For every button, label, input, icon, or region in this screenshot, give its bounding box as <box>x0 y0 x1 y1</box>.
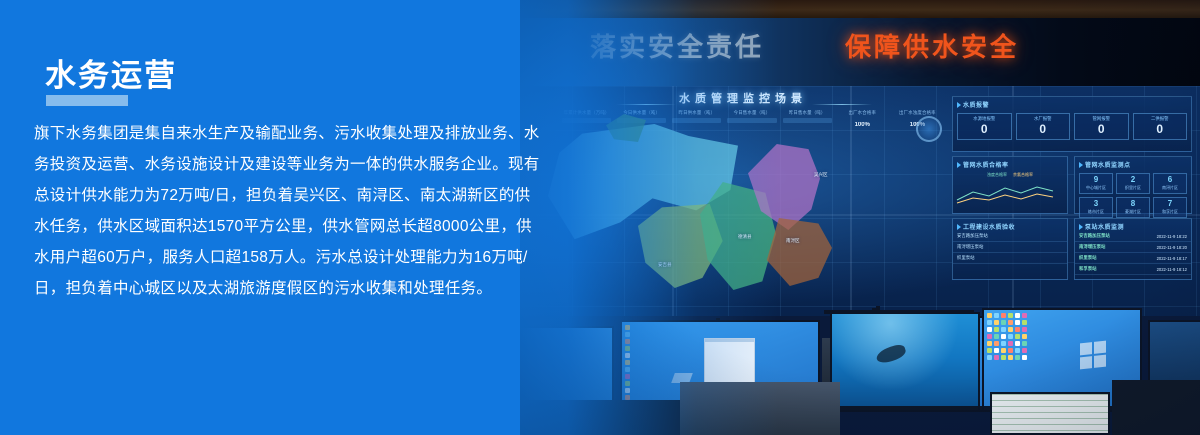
list-item-name: 织里泵站 <box>957 255 975 261</box>
panel-title: 管网水质合格率 <box>953 157 1067 169</box>
metric-value: 100% <box>838 122 887 128</box>
list-item: 和孚泵站 2022-11-9 18:12 <box>1075 264 1191 275</box>
windows-logo-icon <box>1080 341 1106 370</box>
monitor-point-cell: 2 织里片区 <box>1116 173 1150 194</box>
monitor-point-cell: 9 中心城片区 <box>1079 173 1113 194</box>
list-item-name: 安吉路加压泵站 <box>957 233 988 239</box>
panel-monitor-points: 管网水质监测点 9 中心城片区 2 织里片区 6 南浔片区 <box>1074 156 1192 214</box>
list-item-name: 南浔增压泵站 <box>957 244 983 250</box>
monitor-point-label: 菱湖片区 <box>1117 209 1149 215</box>
metric-bar <box>562 118 611 123</box>
desktop-icon-column <box>625 325 630 407</box>
list-item-time: 2022-11-9 18:12 <box>1157 267 1187 272</box>
list-item: 织里泵站 2022-11-9 18:17 <box>1075 253 1191 264</box>
alarm-card-value: 0 <box>1134 122 1187 136</box>
monitor-point-cell: 6 南浔片区 <box>1153 173 1187 194</box>
alarm-card-value: 0 <box>1017 122 1070 136</box>
alarm-card-label: 水厂报警 <box>1017 116 1070 122</box>
alarm-card: 管网报警 0 <box>1074 113 1129 140</box>
metric-label: 昨日供水量（吨） <box>672 110 721 116</box>
list-item: 南浔增压泵站 <box>953 242 1067 253</box>
monitor-point-value: 3 <box>1080 199 1112 209</box>
metric-label: 今日售水量（吨） <box>727 110 776 116</box>
list-item-name: 织里泵站 <box>1079 255 1097 260</box>
metric-label: 年累计供水量（万吨） <box>562 110 611 116</box>
monitor-point-cell: 7 和孚片区 <box>1153 197 1187 218</box>
alarm-card-label: 管网报警 <box>1075 116 1128 122</box>
monitor-point-label: 南浔片区 <box>1154 185 1186 191</box>
panel-station-water-quality: 泵站水质监测 安吉路加压泵站 2022-11-9 18:22 南浔增压泵站 20… <box>1074 218 1192 280</box>
monitor-point-value: 8 <box>1117 199 1149 209</box>
map-label-deqing: 德清县 <box>738 234 752 240</box>
pass-rate-chart <box>953 180 1063 206</box>
control-room-photo: 落实安全责任 保障供水安全 水质管理监控场景 年累计供水量（万吨） 今日供水量（… <box>520 0 1200 435</box>
monitor-point-label: 织里片区 <box>1117 185 1149 191</box>
desktop-icon-grid <box>987 313 1027 360</box>
description-text: 旗下水务集团是集自来水生产及输配业务、污水收集处理及排放业务、水务投资及运营、水… <box>34 118 544 304</box>
list-item-name: 安吉路加压泵站 <box>1079 233 1110 238</box>
legend-turbidity: 浊度合格率 <box>987 172 1007 178</box>
metric-item: 昨日供水量（吨） <box>672 110 721 128</box>
list-item: 南浔增压泵站 2022-11-9 18:20 <box>1075 242 1191 253</box>
metric-bar <box>783 118 832 123</box>
list-item-time: 2022-11-9 18:20 <box>1157 245 1187 250</box>
alarm-card: 水源地报警 0 <box>957 113 1012 140</box>
panel-water-quality-alarm: 水质报警 水源地报警 0 水厂报警 0 管网报警 0 二供报 <box>952 96 1192 152</box>
spacer9 <box>716 318 720 322</box>
list-item-time: 2022-11-9 18:22 <box>1157 234 1187 239</box>
desk-front-edge-right <box>1112 380 1200 435</box>
monitor-point-label: 练市片区 <box>1080 209 1112 215</box>
video-wall: 水质管理监控场景 年累计供水量（万吨） 今日供水量（吨） 昨日供水量（吨） <box>520 86 1200 316</box>
metric-label: 出厂水合格率 <box>838 110 887 116</box>
monitor-spreadsheet <box>990 392 1110 435</box>
description-paragraph: 旗下水务集团是集自来水生产及输配业务、污水收集处理及排放业务、水务投资及运营、水… <box>34 118 544 304</box>
slogan-right: 保障供水安全 <box>845 27 1019 64</box>
monitor-point-grid: 9 中心城片区 2 织里片区 6 南浔片区 3 练市片区 <box>1075 169 1191 222</box>
monitor-point-value: 2 <box>1117 175 1149 185</box>
alarm-card: 二供报警 0 <box>1133 113 1188 140</box>
panel-title: 水质报警 <box>953 97 1191 109</box>
metric-item: 今日售水量（吨） <box>727 110 776 128</box>
panel-title: 工程建设水质验收 <box>953 219 1067 231</box>
monitor-point-cell: 3 练市片区 <box>1079 197 1113 218</box>
metric-label: 昨日售水量（吨） <box>783 110 832 116</box>
monitor-point-cell: 8 菱湖片区 <box>1116 197 1150 218</box>
map-label-nanxun: 南浔区 <box>786 238 800 244</box>
monitor-point-value: 9 <box>1080 175 1112 185</box>
metric-bar <box>672 118 721 123</box>
foreground-monitor-back <box>680 382 840 435</box>
water-operations-banner: 落实安全责任 保障供水安全 水质管理监控场景 年累计供水量（万吨） 今日供水量（… <box>0 0 1200 435</box>
window-titlebar <box>705 339 754 342</box>
text-column: 水务运营 旗下水务集团是集自来水生产及输配业务、污水收集处理及排放业务、水务投资… <box>0 0 560 435</box>
legend-chlorine: 余氯合格率 <box>1013 172 1033 178</box>
underwater-wallpaper <box>832 314 978 410</box>
monitor-point-value: 7 <box>1154 199 1186 209</box>
list-item-name: 和孚泵站 <box>1079 266 1097 271</box>
monitor-underwater <box>830 312 980 412</box>
metric-item: 年累计供水量（万吨） <box>562 110 611 128</box>
page-title: 水务运营 <box>45 50 177 95</box>
slogan-left: 落实安全责任 <box>590 27 764 64</box>
map-label-wuxing: 吴兴区 <box>814 172 828 178</box>
alarm-card-row: 水源地报警 0 水厂报警 0 管网报警 0 二供报警 0 <box>953 109 1191 144</box>
list-item: 安吉路加压泵站 2022-11-9 18:22 <box>1075 231 1191 242</box>
panel-pass-rate: 管网水质合格率 浊度合格率 余氯合格率 <box>952 156 1068 214</box>
list-item: 织里泵站 <box>953 253 1067 264</box>
panel-title: 管网水质监测点 <box>1075 157 1191 169</box>
panel-title: 泵站水质监测 <box>1075 219 1191 231</box>
spreadsheet-content <box>992 394 1108 433</box>
map-label-anji: 安吉县 <box>658 262 672 268</box>
alarm-card: 水厂报警 0 <box>1016 113 1071 140</box>
alarm-card-value: 0 <box>958 122 1011 136</box>
monitor-point-label: 中心城片区 <box>1080 185 1112 191</box>
title-underline-bar <box>46 95 128 106</box>
compass-gauge <box>916 116 942 142</box>
list-item-time: 2022-11-9 18:17 <box>1157 256 1187 261</box>
metric-item: 昨日售水量（吨） <box>783 110 832 128</box>
metric-bar <box>727 118 776 123</box>
monitor-point-value: 6 <box>1154 175 1186 185</box>
alarm-card-label: 二供报警 <box>1134 116 1187 122</box>
alarm-card-label: 水源地报警 <box>958 116 1011 122</box>
alarm-card-value: 0 <box>1075 122 1128 136</box>
title-decoration-left <box>616 104 676 105</box>
list-item-name: 南浔增压泵站 <box>1079 244 1105 249</box>
list-item: 安吉路加压泵站 <box>953 231 1067 242</box>
panel-construction-inspection: 工程建设水质验收 安吉路加压泵站 南浔增压泵站 织里泵站 <box>952 218 1068 280</box>
metric-item: 出厂水合格率 100% <box>838 110 887 128</box>
metric-label: 出厂水浊度合格率 <box>893 110 942 116</box>
monitor-point-label: 和孚片区 <box>1154 209 1186 215</box>
title-decoration-right <box>812 104 872 105</box>
